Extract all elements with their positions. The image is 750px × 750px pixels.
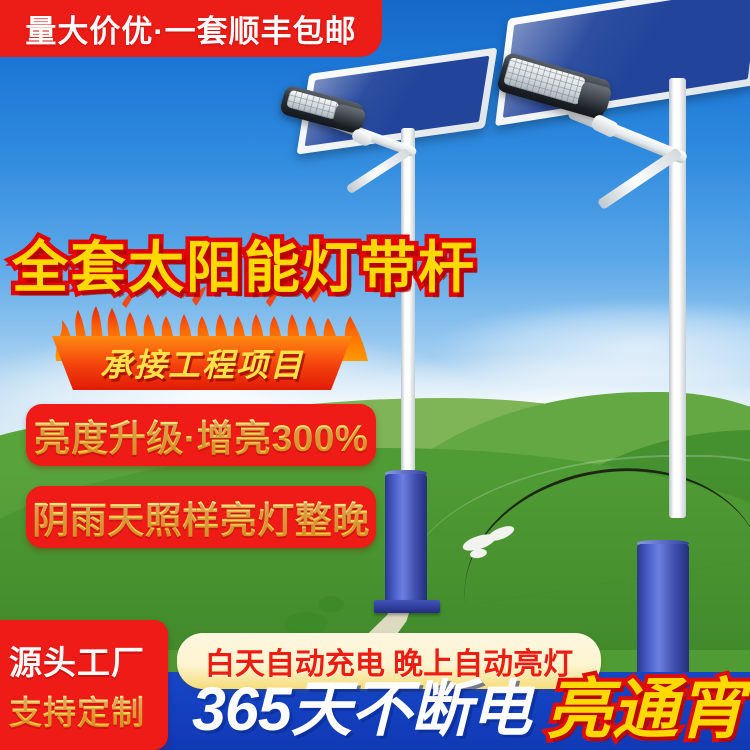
feature-pill-brightness: 亮度升级·增亮300% xyxy=(26,404,376,466)
base-plate xyxy=(374,600,440,613)
project-ribbon: 承接工程项目 xyxy=(52,336,352,390)
feature-pill-brightness-text: 亮度升级·增亮300% xyxy=(34,408,368,462)
advertisement-poster: 量大价优·一套顺丰包邮 全套太阳能灯带杆 承接工程项目 亮度升级·增亮300% … xyxy=(0,0,750,750)
pole-upper xyxy=(669,78,686,518)
promo-banner-top: 量大价优·一套顺丰包邮 xyxy=(0,0,382,57)
project-ribbon-text: 承接工程项目 xyxy=(100,340,304,386)
factory-badge-line2: 支持定制 xyxy=(9,686,145,734)
factory-badge-line1: 源头工厂 xyxy=(9,636,145,684)
factory-badge: 源头工厂 支持定制 xyxy=(0,620,168,750)
feature-pill-rainy-day-text: 阴雨天照样亮灯整晚 xyxy=(32,490,370,544)
footer-headline-yellow: 亮通宵 xyxy=(546,656,744,750)
cloud-band xyxy=(435,300,750,380)
page-title: 全套太阳能灯带杆 xyxy=(12,223,476,304)
footer-headline-white: 365天不断电 xyxy=(192,659,531,748)
promo-banner-text: 量大价优·一套顺丰包邮 xyxy=(25,6,356,51)
bush xyxy=(285,612,327,634)
bush xyxy=(318,596,344,612)
battery-base xyxy=(385,474,427,606)
feature-pill-rainy-day: 阴雨天照样亮灯整晚 xyxy=(26,486,376,548)
